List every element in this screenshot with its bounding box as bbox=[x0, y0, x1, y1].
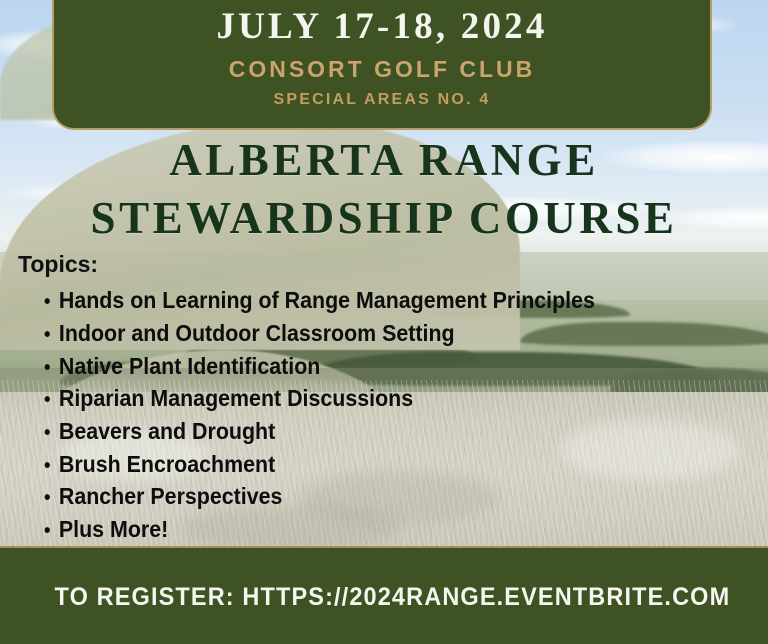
registration-link[interactable]: TO REGISTER: HTTPS://2024RANGE.EVENTBRIT… bbox=[0, 583, 730, 612]
bullet-icon: • bbox=[44, 423, 59, 443]
topic-item: • Plus More! bbox=[44, 513, 595, 546]
bullet-icon: • bbox=[44, 456, 59, 476]
topics-section: Topics: • Hands on Learning of Range Man… bbox=[18, 252, 636, 546]
event-area: SPECIAL AREAS NO. 4 bbox=[274, 91, 491, 109]
topic-item: • Native Plant Identification bbox=[44, 350, 595, 383]
bullet-icon: • bbox=[44, 325, 59, 345]
bullet-icon: • bbox=[44, 358, 59, 378]
bullet-icon: • bbox=[44, 292, 59, 312]
topic-item: • Hands on Learning of Range Management … bbox=[44, 284, 595, 317]
title-line-1: ALBERTA RANGE bbox=[0, 132, 768, 190]
registration-footer: TO REGISTER: HTTPS://2024RANGE.EVENTBRIT… bbox=[0, 546, 768, 644]
topics-heading: Topics: bbox=[18, 252, 636, 277]
poster-title: ALBERTA RANGE STEWARDSHIP COURSE bbox=[0, 132, 768, 247]
topic-label: Plus More! bbox=[59, 513, 168, 546]
topic-item: • Beavers and Drought bbox=[44, 415, 595, 448]
topic-item: • Rancher Perspectives bbox=[44, 480, 595, 513]
topics-list: • Hands on Learning of Range Management … bbox=[18, 284, 636, 545]
topic-item: • Riparian Management Discussions bbox=[44, 382, 595, 415]
poster-canvas: JULY 17-18, 2024 CONSORT GOLF CLUB SPECI… bbox=[0, 0, 768, 644]
bullet-icon: • bbox=[44, 488, 59, 508]
topic-label: Native Plant Identification bbox=[59, 350, 320, 383]
topic-label: Indoor and Outdoor Classroom Setting bbox=[59, 317, 455, 350]
topic-item: • Brush Encroachment bbox=[44, 448, 595, 481]
bullet-icon: • bbox=[44, 521, 59, 541]
header-badge: JULY 17-18, 2024 CONSORT GOLF CLUB SPECI… bbox=[52, 0, 712, 130]
event-venue: CONSORT GOLF CLUB bbox=[229, 56, 536, 83]
topic-label: Riparian Management Discussions bbox=[59, 382, 413, 415]
topic-label: Brush Encroachment bbox=[59, 448, 275, 481]
bullet-icon: • bbox=[44, 390, 59, 410]
topic-item: • Indoor and Outdoor Classroom Setting bbox=[44, 317, 595, 350]
topic-label: Hands on Learning of Range Management Pr… bbox=[59, 284, 595, 317]
title-line-2: STEWARDSHIP COURSE bbox=[0, 190, 768, 248]
topic-label: Rancher Perspectives bbox=[59, 480, 283, 513]
topic-label: Beavers and Drought bbox=[59, 415, 275, 448]
event-date: JULY 17-18, 2024 bbox=[216, 8, 547, 47]
